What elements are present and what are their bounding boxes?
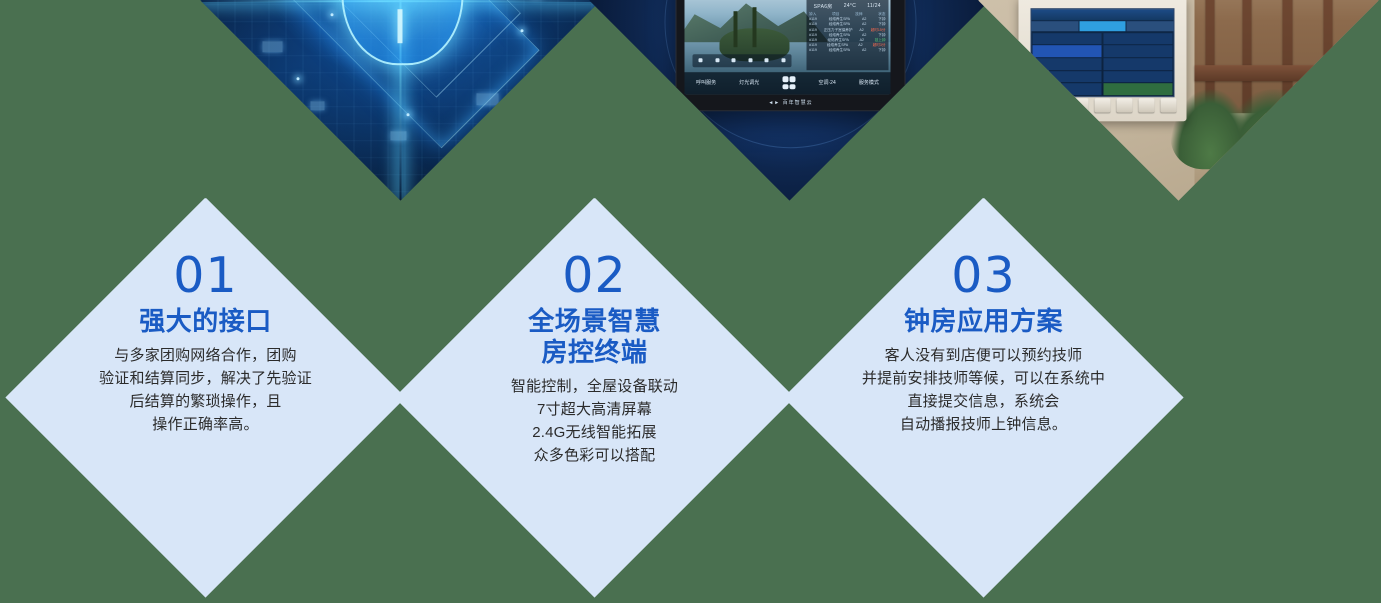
- media-control-bar: [693, 53, 792, 66]
- panel-menu-item[interactable]: [1104, 57, 1173, 69]
- volume-icon: [765, 58, 769, 62]
- cell: 下钟: [878, 22, 885, 27]
- card-body-line: 后结算的繁琐操作，且: [99, 390, 312, 413]
- card-body-line: 2.4G无线智能拓展: [511, 421, 678, 444]
- panel-menu-item[interactable]: [1032, 57, 1101, 69]
- cell: 经络养生SPA: [827, 43, 848, 48]
- th-1: 项目: [832, 11, 839, 16]
- cell: #119: [809, 32, 817, 37]
- cell: A2: [859, 27, 863, 32]
- room-label: SPA6房: [814, 2, 833, 9]
- terminal-screen: 22:35 SPA6房 24°C 11/24 钟入 项目 技师 状态: [685, 0, 891, 93]
- panel-menu-item[interactable]: [1032, 70, 1101, 82]
- panel-menu-item[interactable]: [1104, 70, 1173, 82]
- chip-decorations: [201, 0, 601, 201]
- cell: 经络养生SPA: [829, 22, 850, 27]
- cell-status: 超时3分: [873, 43, 886, 48]
- dock-item-air-conditioner: 空调·24: [819, 79, 836, 86]
- card-body-line: 智能控制，全屋设备联动: [511, 375, 678, 398]
- panel-hardware-buttons[interactable]: [1029, 94, 1177, 114]
- panel-tabs[interactable]: [1031, 20, 1174, 31]
- cell: #119: [809, 38, 817, 43]
- cell: 经络养生SPA: [829, 48, 850, 53]
- card-title: 钟房应用方案: [904, 306, 1063, 337]
- temperature-label: 24°C: [844, 2, 856, 9]
- wood-rail: [1195, 64, 1379, 80]
- card-title-line: 钟房应用方案: [904, 306, 1063, 337]
- cell: 下钟: [878, 32, 885, 37]
- feature-card-01-content: 01 强大的接口 与多家团购网络合作，团购 验证和结算同步，解决了先验证 后结算…: [6, 198, 406, 598]
- card-body-line: 众多色彩可以搭配: [511, 444, 678, 467]
- panel-menu-item[interactable]: [1104, 32, 1173, 44]
- table-row: #119 经络养生SPA A2 下钟: [808, 32, 886, 37]
- th-3: 状态: [878, 12, 885, 17]
- card-body-line: 操作正确率高。: [99, 413, 312, 436]
- feature-card-01[interactable]: 01 强大的接口 与多家团购网络合作，团购 验证和结算同步，解决了先验证 后结算…: [5, 197, 405, 597]
- wall-control-panel[interactable]: [1019, 0, 1187, 120]
- feature-diamond-banner: 22:35 SPA6房 24°C 11/24 钟入 项目 技师 状态: [0, 0, 1381, 603]
- card-title: 全场景智慧 房控终端: [528, 306, 661, 368]
- clock-subline: SPA6房 24°C 11/24: [806, 2, 888, 12]
- forward-icon: [748, 58, 752, 62]
- dock-item-lighting: 灯光调光: [739, 79, 759, 86]
- terminal-brand-bar: ◄► 百年智慧云: [677, 96, 905, 108]
- card-number: 03: [951, 250, 1015, 302]
- table-row: #119 经络养生SPA A2 下钟: [808, 22, 886, 27]
- table-row: #119 经络养生SPA A2 下钟: [808, 17, 886, 22]
- card-body-line: 并提前安排技师等候，可以在系统中: [862, 367, 1105, 390]
- cell: A2: [862, 32, 866, 37]
- panel-button[interactable]: [1072, 97, 1088, 111]
- cell: 下钟: [878, 17, 885, 22]
- card-body-line: 直接提交信息，系统会: [862, 390, 1105, 413]
- panel-menu-item-status[interactable]: [1104, 83, 1173, 95]
- panel-screen[interactable]: [1030, 8, 1175, 97]
- cell-status: 超时15分: [871, 27, 886, 32]
- panel-button[interactable]: [1094, 97, 1110, 111]
- clock-and-schedule-panel: 22:35 SPA6房 24°C 11/24 钟入 项目 技师 状态: [806, 0, 888, 70]
- cell: A2: [862, 17, 866, 22]
- table-row: #119 正压力子宫保养护 A2 超时15分: [808, 27, 886, 32]
- table-header-row: 钟入 项目 技师 状态: [808, 12, 886, 17]
- card-title-line: 房控终端: [528, 337, 661, 368]
- card-body: 与多家团购网络合作，团购 验证和结算同步，解决了先验证 后结算的繁琐操作，且 操…: [99, 344, 312, 436]
- panel-button[interactable]: [1138, 97, 1154, 111]
- clock-time: 22:35: [806, 0, 888, 2]
- panel-button[interactable]: [1029, 97, 1045, 111]
- panel-menu-column-right[interactable]: [1103, 31, 1174, 95]
- wallpaper-tree: [752, 6, 756, 46]
- panel-button[interactable]: [1160, 97, 1176, 111]
- play-icon: [732, 58, 736, 62]
- cell: 经络养生SPA: [829, 32, 850, 37]
- panel-menu-item-selected[interactable]: [1032, 45, 1101, 57]
- image-diamond-terminal: 22:35 SPA6房 24°C 11/24 钟入 项目 技师 状态: [589, 0, 989, 201]
- th-0: 钟入: [809, 12, 816, 17]
- card-number: 02: [562, 250, 626, 302]
- dock-item-call-service: 呼叫服务: [696, 79, 716, 86]
- panel-tab-2-selected[interactable]: [1079, 20, 1126, 30]
- image-diamond-shield: [200, 0, 600, 201]
- cell: #119: [809, 48, 817, 53]
- card-body-line: 7寸超大高清屏幕: [511, 398, 678, 421]
- card-title: 强大的接口: [139, 306, 272, 337]
- feature-card-02[interactable]: 02 全场景智慧 房控终端 智能控制，全屋设备联动 7寸超大高清屏幕 2.4G无…: [394, 197, 794, 597]
- wall-panel-photo-artwork: [979, 0, 1379, 201]
- panel-titlebar: [1031, 9, 1174, 20]
- card-body-line: 客人没有到店便可以预约技师: [862, 344, 1105, 367]
- cell: A2: [860, 38, 864, 43]
- terminal-bezel: 22:35 SPA6房 24°C 11/24 钟入 项目 技师 状态: [676, 0, 906, 110]
- panel-button[interactable]: [1116, 97, 1132, 111]
- panel-tab-3[interactable]: [1127, 20, 1174, 30]
- panel-menu-item[interactable]: [1104, 45, 1173, 57]
- card-number: 01: [173, 250, 237, 302]
- cell-status: 技上钟: [875, 38, 886, 43]
- panel-tab-1[interactable]: [1032, 20, 1079, 30]
- card-body: 客人没有到店便可以预约技师 并提前安排技师等候，可以在系统中 直接提交信息，系统…: [862, 344, 1105, 436]
- table-row: #119 经络养生SPA A2 超时3分: [808, 43, 886, 48]
- date-label: 11/24: [867, 2, 881, 9]
- cell: A2: [862, 48, 866, 53]
- image-diamond-room-panel: [978, 0, 1378, 201]
- schedule-table: 钟入 项目 技师 状态 #119 经络养生SPA A2 下钟: [806, 12, 888, 54]
- card-body: 智能控制，全屋设备联动 7寸超大高清屏幕 2.4G无线智能拓展 众多色彩可以搭配: [511, 375, 678, 467]
- cell: 正压力子宫保养护: [824, 27, 853, 32]
- holographic-shield-artwork: [201, 0, 601, 201]
- feature-card-03-content: 03 钟房应用方案 客人没有到店便可以预约技师 并提前安排技师等候，可以在系统中…: [784, 198, 1184, 598]
- cell: A2: [862, 22, 866, 27]
- cell: #119: [809, 43, 817, 48]
- table-row: #119 经络养生SPA A2 下钟: [808, 48, 886, 53]
- cell: 下钟: [878, 48, 885, 53]
- card-title-line: 全场景智慧: [528, 306, 661, 337]
- cell: #119: [809, 22, 817, 27]
- wallpaper-tree: [734, 11, 738, 46]
- rewind-icon: [715, 58, 719, 62]
- panel-menu-item[interactable]: [1032, 83, 1101, 95]
- dock-item-service-mode: 服务模式: [859, 79, 879, 86]
- card-title-line: 强大的接口: [139, 306, 272, 337]
- cell: 经络养生SPA: [828, 38, 849, 43]
- th-2: 技师: [855, 11, 862, 16]
- smart-room-terminal-artwork: 22:35 SPA6房 24°C 11/24 钟入 项目 技师 状态: [590, 0, 990, 201]
- panel-menu-column-left[interactable]: [1031, 31, 1102, 95]
- card-body-line: 自动播报技师上钟信息。: [862, 413, 1105, 436]
- panel-button[interactable]: [1051, 97, 1067, 111]
- next-track-icon: [781, 58, 785, 62]
- cell: #119: [809, 17, 817, 22]
- cell: A2: [858, 43, 862, 48]
- previous-track-icon: [699, 58, 703, 62]
- brand-logo: ◄► 百年智慧云: [768, 98, 812, 105]
- cell: 经络养生SPA: [829, 17, 850, 22]
- card-body-line: 与多家团购网络合作，团购: [99, 344, 312, 367]
- feature-card-02-content: 02 全场景智慧 房控终端 智能控制，全屋设备联动 7寸超大高清屏幕 2.4G无…: [395, 198, 795, 598]
- feature-card-03[interactable]: 03 钟房应用方案 客人没有到店便可以预约技师 并提前安排技师等候，可以在系统中…: [783, 197, 1183, 597]
- terminal-dock: 呼叫服务 灯光调光 空调·24 服务模式: [685, 71, 891, 93]
- wood-post: [1323, 0, 1332, 136]
- app-grid-icon: [782, 76, 795, 89]
- panel-menu-item[interactable]: [1032, 32, 1101, 44]
- panel-menu-body: [1031, 31, 1174, 95]
- card-body-line: 验证和结算同步，解决了先验证: [99, 367, 312, 390]
- table-row: #119 经络养生SPA A2 技上钟: [808, 38, 886, 43]
- cell: #119: [809, 27, 817, 32]
